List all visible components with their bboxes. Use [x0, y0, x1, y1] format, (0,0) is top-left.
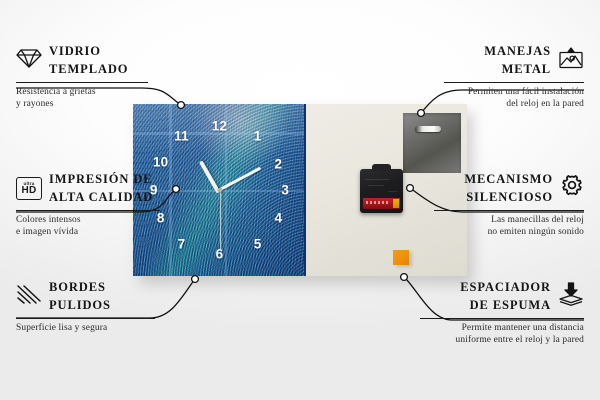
hanger-keyhole-slot [415, 126, 441, 132]
clock-numeral-7: 7 [178, 237, 186, 251]
clock-center-pin [218, 188, 222, 192]
callout-sub-line1: Permiten una fácil instalación [444, 86, 584, 98]
callout-sub-line1: Resistencia a grietas [16, 86, 156, 98]
callout-title-line1: ESPACIADOR [460, 280, 551, 294]
callout-divider [444, 82, 584, 83]
battery-terminal [393, 199, 399, 208]
callout-title: MECANISMO SILENCIOSO [464, 170, 553, 206]
callout-divider [434, 210, 584, 211]
callout-manejas-metal[interactable]: MANEJAS METAL Permiten una fácil instala… [444, 42, 584, 110]
callout-title-line1: MANEJAS [484, 44, 551, 58]
callout-title-line2: PULIDOS [49, 298, 111, 312]
callout-sub-line1: Las manecillas del reloj [434, 214, 584, 226]
callout-header: VIDRIO TEMPLADO [16, 42, 156, 78]
callout-sub-line1: Colores intensos [16, 214, 166, 226]
callout-header: ESPACIADOR DE ESPUMA [420, 278, 584, 314]
callout-title-line2: ALTA CALIDAD [49, 190, 153, 204]
callout-title-line2: DE ESPUMA [470, 298, 551, 312]
callout-title: VIDRIO TEMPLADO [49, 42, 128, 78]
clock-numeral-12: 12 [212, 119, 227, 133]
callout-divider [16, 82, 148, 83]
framed-picture-icon [558, 47, 584, 74]
ultra-hd-icon-main-text: HD [21, 186, 36, 196]
callout-sub-line2: uniforme entre el reloj y la pared [420, 334, 584, 346]
clock-numeral-2: 2 [274, 157, 282, 171]
press-down-layers-icon [558, 282, 584, 311]
callout-title-line2: TEMPLADO [49, 62, 128, 76]
callout-title-line1: MECANISMO [464, 172, 553, 186]
callout-sub-line2: del reloj en la pared [444, 98, 584, 110]
callout-impresion-alta-calidad[interactable]: ultra HD IMPRESIÓN DE ALTA CALIDAD Color… [16, 170, 166, 238]
callout-sub-line1: Superficie lisa y segura [16, 322, 161, 334]
clock-numeral-5: 5 [254, 237, 262, 251]
callout-title: ESPACIADOR DE ESPUMA [460, 278, 551, 314]
callout-espaciador-de-espuma[interactable]: ESPACIADOR DE ESPUMA Permite mantener un… [420, 278, 584, 346]
callout-sub-line1: Permite mantener una distancia [420, 322, 584, 334]
clock-numeral-11: 11 [174, 129, 189, 143]
metal-hanger-plate [403, 113, 461, 173]
callout-divider [16, 318, 155, 319]
callout-bordes-pulidos[interactable]: BORDES PULIDOS Superficie lisa y segura [16, 278, 161, 334]
callout-title-line1: BORDES [49, 280, 106, 294]
callout-divider [16, 210, 160, 211]
clock-numeral-4: 4 [274, 211, 282, 225]
gear-icon [560, 174, 584, 203]
callout-mecanismo-silencioso[interactable]: MECANISMO SILENCIOSO Las manecillas del … [434, 170, 584, 238]
callout-title-line2: METAL [502, 62, 551, 76]
clock-numeral-1: 1 [254, 129, 262, 143]
callout-vidrio-templado[interactable]: VIDRIO TEMPLADO Resistencia a grietas y … [16, 42, 156, 110]
callout-title-line1: VIDRIO [49, 44, 101, 58]
battery-label [366, 201, 390, 204]
aa-battery [363, 198, 400, 209]
polished-edges-icon [16, 283, 42, 310]
callout-title: BORDES PULIDOS [49, 278, 111, 314]
clock-movement-module [360, 169, 403, 213]
callout-title: IMPRESIÓN DE ALTA CALIDAD [49, 170, 153, 206]
movement-hanger-tab [372, 164, 391, 171]
infographic-canvas: 12 1 2 3 4 5 6 7 8 9 10 11 [0, 0, 600, 400]
callout-divider [420, 318, 584, 319]
clock-second-hand [220, 191, 221, 251]
movement-detail-2 [368, 185, 384, 186]
callout-title-line1: IMPRESIÓN DE [49, 172, 153, 186]
callout-title: MANEJAS METAL [484, 42, 551, 78]
ultra-hd-icon: ultra HD [16, 177, 42, 200]
callout-title-line2: SILENCIOSO [466, 190, 553, 204]
callout-sub-line2: y rayones [16, 98, 156, 110]
callout-sub-line2: no emiten ningún sonido [434, 226, 584, 238]
clock-numeral-10: 10 [153, 155, 168, 169]
callout-header: MANEJAS METAL [444, 42, 584, 78]
movement-detail-3 [388, 191, 397, 192]
movement-detail-1 [365, 179, 389, 180]
callout-header: MECANISMO SILENCIOSO [434, 170, 584, 206]
callout-header: ultra HD IMPRESIÓN DE ALTA CALIDAD [16, 170, 166, 206]
clock-numeral-3: 3 [281, 183, 289, 197]
callout-header: BORDES PULIDOS [16, 278, 161, 314]
foam-spacer-pad [393, 250, 409, 265]
diamond-icon [16, 47, 42, 74]
callout-sub-line2: e imagen vívida [16, 226, 166, 238]
